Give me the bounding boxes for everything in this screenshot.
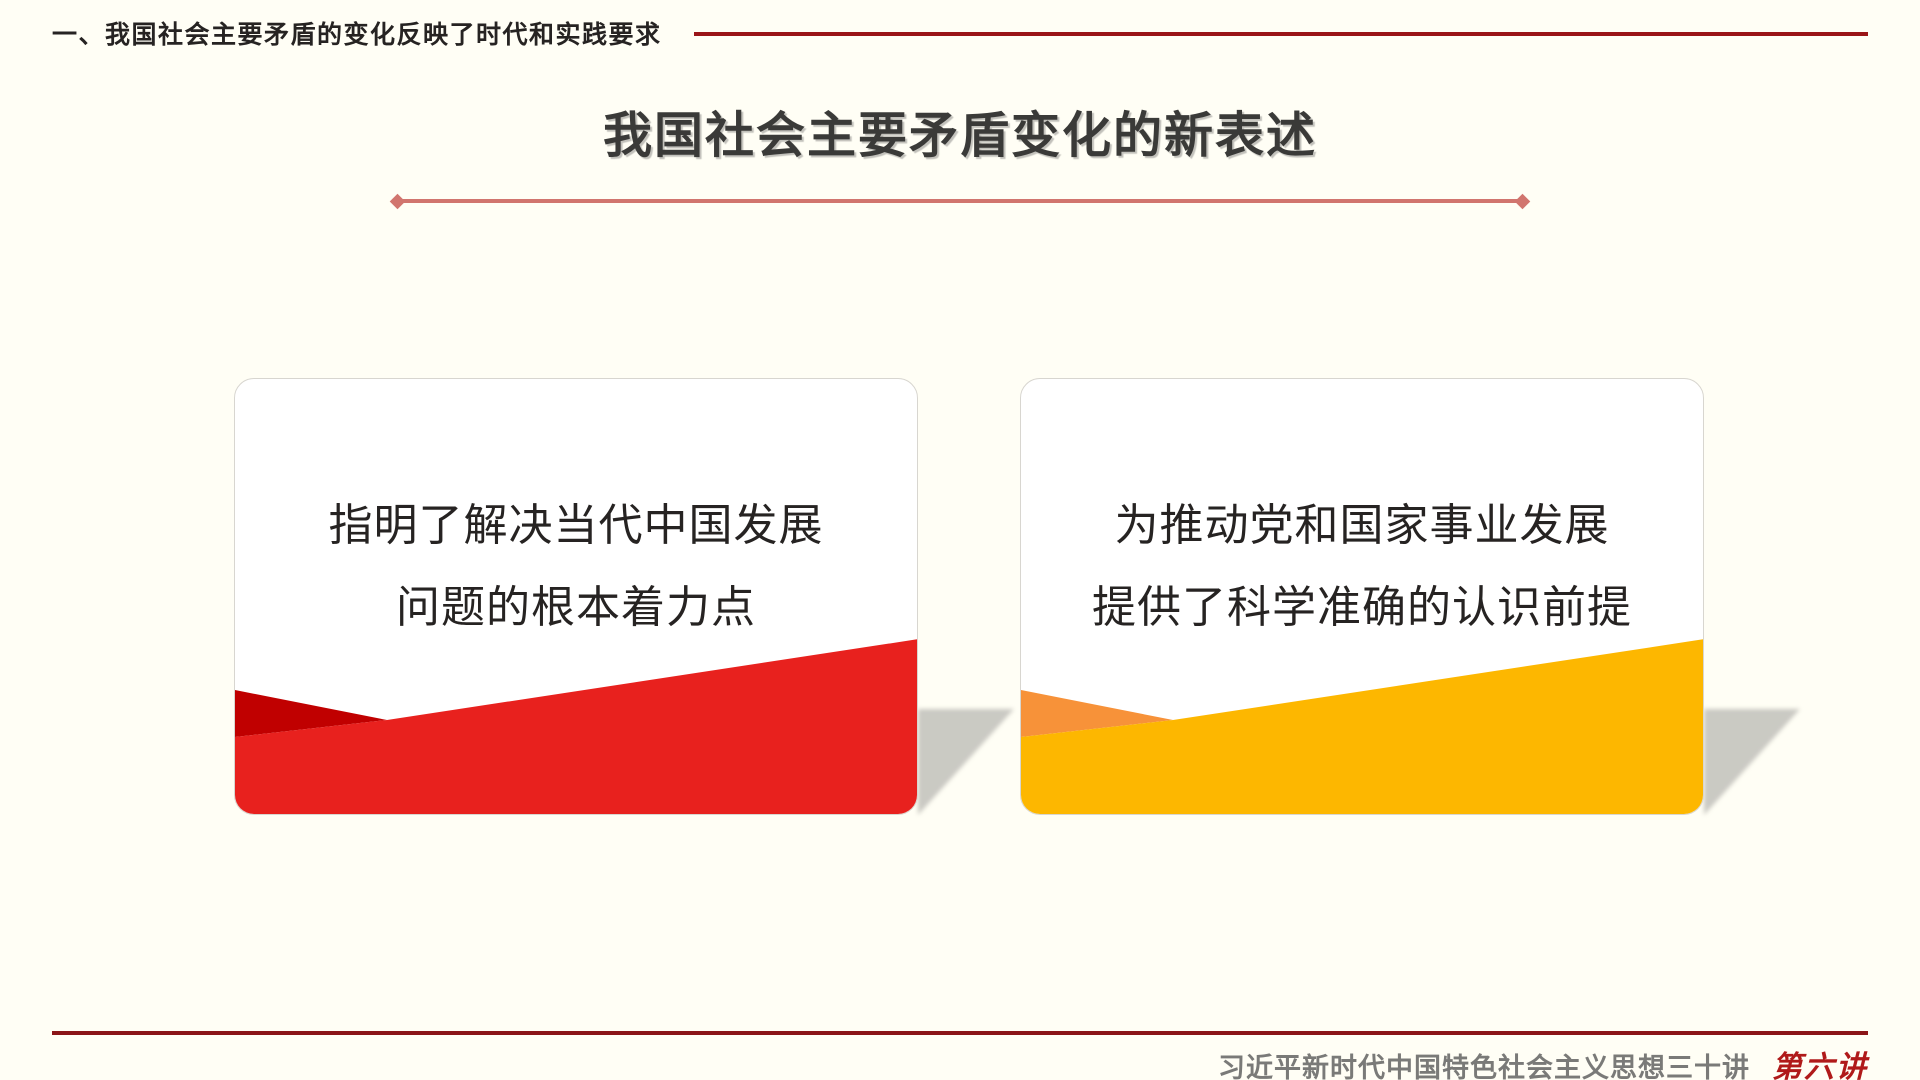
title-divider — [392, 196, 1528, 206]
slide-canvas: 一、我国社会主要矛盾的变化反映了时代和实践要求 我国社会主要矛盾变化的新表述 指… — [0, 0, 1920, 1080]
card-shadow-left — [918, 709, 1014, 815]
wave-accent-left — [235, 639, 918, 814]
card-left-line-2: 问题的根本着力点 — [235, 567, 917, 649]
card-right-line-1: 为推动党和国家事业发展 — [1021, 485, 1703, 567]
card-left-line-1: 指明了解决当代中国发展 — [235, 485, 917, 567]
content-card-left[interactable]: 指明了解决当代中国发展 问题的根本着力点 — [234, 378, 918, 815]
divider-line — [398, 199, 1522, 203]
footer: 习近平新时代中国特色社会主义思想三十讲 第六讲 — [1218, 1042, 1868, 1080]
section-header-label: 一、我国社会主要矛盾的变化反映了时代和实践要求 — [52, 15, 662, 51]
card-right-text: 为推动党和国家事业发展 提供了科学准确的认识前提 — [1021, 485, 1703, 649]
section-header-rule — [694, 32, 1868, 36]
card-shadow-right — [1704, 709, 1800, 815]
card-left-text: 指明了解决当代中国发展 问题的根本着力点 — [235, 485, 917, 649]
card-right-line-2: 提供了科学准确的认识前提 — [1021, 567, 1703, 649]
footer-rule — [52, 1031, 1868, 1035]
footer-lecture-label: 第六讲 — [1772, 1042, 1868, 1080]
wave-accent-right — [1021, 639, 1704, 814]
page-title: 我国社会主要矛盾变化的新表述 — [0, 96, 1920, 167]
diamond-icon-right — [1515, 194, 1531, 210]
content-card-right[interactable]: 为推动党和国家事业发展 提供了科学准确的认识前提 — [1020, 378, 1704, 815]
section-header: 一、我国社会主要矛盾的变化反映了时代和实践要求 — [52, 15, 1868, 51]
footer-series-title: 习近平新时代中国特色社会主义思想三十讲 — [1218, 1046, 1750, 1080]
